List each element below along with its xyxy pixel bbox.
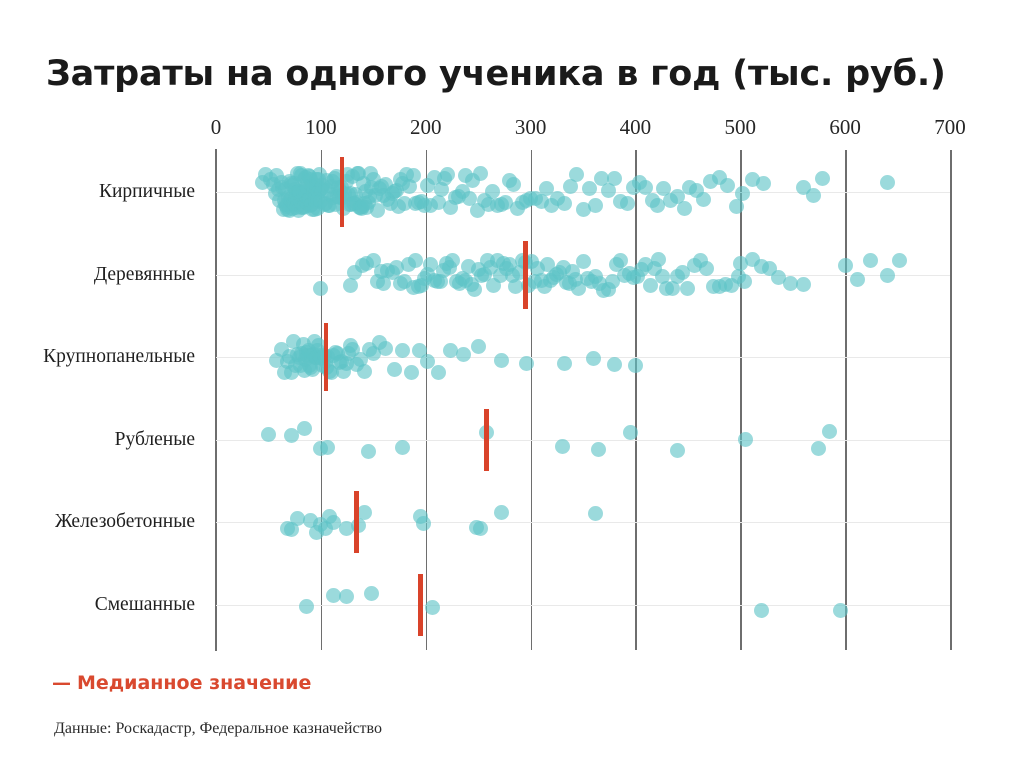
data-point xyxy=(406,168,421,183)
chart-figure: Затраты на одного ученика в год (тыс. ру… xyxy=(0,0,1024,768)
data-point xyxy=(506,177,521,192)
data-point xyxy=(815,171,830,186)
data-point xyxy=(737,274,752,289)
data-point xyxy=(838,258,853,273)
data-point xyxy=(850,272,865,287)
category-label-3: Крупнопанельные xyxy=(43,346,195,368)
xtick-label-0: 0 xyxy=(211,115,222,140)
data-point xyxy=(806,188,821,203)
data-point xyxy=(680,281,695,296)
data-point xyxy=(313,281,328,296)
data-point xyxy=(555,439,570,454)
data-point xyxy=(892,253,907,268)
category-label-1: Кирпичные xyxy=(99,181,195,203)
xtick-label-300: 300 xyxy=(515,115,547,140)
data-point xyxy=(494,505,509,520)
data-point xyxy=(582,181,597,196)
xtick-label-500: 500 xyxy=(725,115,757,140)
gridline-x-600 xyxy=(845,150,847,650)
data-point xyxy=(343,278,358,293)
data-point xyxy=(320,440,335,455)
data-point xyxy=(387,362,402,377)
data-point xyxy=(357,505,372,520)
data-point xyxy=(833,603,848,618)
data-point xyxy=(297,421,312,436)
data-point xyxy=(729,199,744,214)
plot-area: 0100200300400500600700КирпичныеДеревянны… xyxy=(0,0,1024,768)
data-point xyxy=(677,201,692,216)
data-point xyxy=(880,268,895,283)
data-point xyxy=(738,432,753,447)
data-point xyxy=(620,196,635,211)
data-point xyxy=(623,425,638,440)
data-point xyxy=(576,254,591,269)
gridline-x-500 xyxy=(740,150,742,650)
median-marker-1 xyxy=(340,157,344,227)
xtick-label-100: 100 xyxy=(305,115,337,140)
data-point xyxy=(880,175,895,190)
data-point xyxy=(364,586,379,601)
gridline-x-700 xyxy=(950,150,952,650)
data-point xyxy=(735,186,750,201)
data-point xyxy=(696,192,711,207)
median-marker-5 xyxy=(354,491,358,553)
xtick-label-400: 400 xyxy=(620,115,652,140)
data-point xyxy=(339,589,354,604)
data-point xyxy=(699,261,714,276)
data-point xyxy=(670,443,685,458)
data-point xyxy=(863,253,878,268)
data-point xyxy=(720,178,735,193)
data-point xyxy=(607,357,622,372)
gridline-x-200 xyxy=(426,150,428,650)
data-point xyxy=(569,167,584,182)
xtick-label-600: 600 xyxy=(829,115,861,140)
data-point xyxy=(473,166,488,181)
data-point xyxy=(588,198,603,213)
data-point xyxy=(404,365,419,380)
median-marker-3 xyxy=(324,323,328,391)
data-point xyxy=(811,441,826,456)
data-point xyxy=(261,427,276,442)
data-point xyxy=(445,253,460,268)
data-point xyxy=(591,442,606,457)
data-point xyxy=(651,252,666,267)
legend-median: —Медианное значение xyxy=(52,672,311,694)
data-point xyxy=(431,365,446,380)
data-point xyxy=(756,176,771,191)
data-point xyxy=(473,521,488,536)
data-point xyxy=(361,444,376,459)
data-point xyxy=(494,353,509,368)
xtick-label-700: 700 xyxy=(934,115,966,140)
data-point xyxy=(357,364,372,379)
data-point xyxy=(796,277,811,292)
median-marker-4 xyxy=(484,409,488,471)
data-point xyxy=(395,440,410,455)
xtick-label-200: 200 xyxy=(410,115,442,140)
data-point xyxy=(586,351,601,366)
gridline-x-100 xyxy=(321,150,323,650)
median-marker-2 xyxy=(523,241,527,309)
data-point xyxy=(378,341,393,356)
legend-dash-icon: — xyxy=(52,672,71,694)
data-point xyxy=(425,600,440,615)
category-label-2: Деревянные xyxy=(94,264,195,286)
category-label-6: Смешанные xyxy=(95,594,195,616)
data-point xyxy=(456,347,471,362)
data-point xyxy=(588,506,603,521)
category-label-4: Рубленые xyxy=(115,429,195,451)
data-point xyxy=(557,356,572,371)
data-point xyxy=(471,339,486,354)
y-axis-line xyxy=(215,149,217,651)
data-point xyxy=(519,356,534,371)
gridline-x-400 xyxy=(635,150,637,650)
median-marker-6 xyxy=(418,574,422,636)
data-point xyxy=(467,282,482,297)
legend-label: Медианное значение xyxy=(77,672,311,694)
gridline-x-300 xyxy=(531,150,533,650)
data-point xyxy=(822,424,837,439)
category-label-5: Железобетонные xyxy=(55,511,195,533)
source-note: Данные: Роскадастр, Федеральное казначей… xyxy=(54,720,382,738)
data-point xyxy=(395,343,410,358)
data-point xyxy=(628,358,643,373)
data-point xyxy=(557,196,572,211)
data-point xyxy=(607,171,622,186)
data-point xyxy=(416,516,431,531)
data-point xyxy=(408,253,423,268)
data-point xyxy=(299,599,314,614)
data-point xyxy=(754,603,769,618)
data-point xyxy=(440,167,455,182)
